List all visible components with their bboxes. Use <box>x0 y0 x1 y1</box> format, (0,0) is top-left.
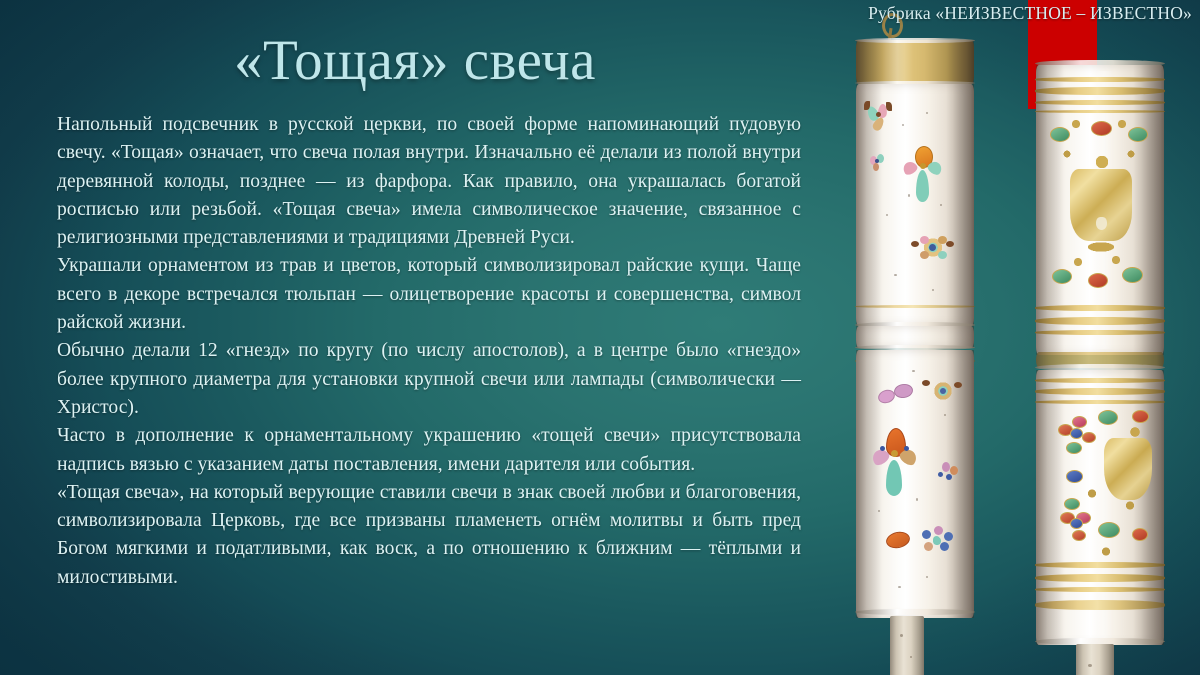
gem-red <box>1088 273 1108 288</box>
flower-leaf <box>954 382 962 388</box>
flower-leaf <box>886 460 902 496</box>
lower-ornate-body <box>1036 370 1164 645</box>
flower-petal <box>920 251 929 259</box>
gold-sprig <box>1114 119 1130 129</box>
gold-sprig <box>1124 149 1138 159</box>
left-candle-image <box>856 26 974 661</box>
flower-petal <box>950 466 958 475</box>
paragraph: Украшали орнаментом из трав и цветов, ко… <box>57 252 801 337</box>
lower-body <box>856 350 974 618</box>
flower-petal <box>934 526 943 535</box>
cap-top-rim <box>855 38 975 43</box>
flower-leaf <box>946 241 954 247</box>
gem-green <box>1050 127 1070 142</box>
candle-stem <box>1076 644 1114 675</box>
flower-center <box>875 159 879 163</box>
flower-accent <box>880 446 885 451</box>
base-rim <box>855 609 975 615</box>
gem-green <box>1098 410 1118 425</box>
flower-petal <box>873 163 879 171</box>
body-text-block: Напольный подсвечник в русской церкви, п… <box>57 111 801 592</box>
gold-sprig <box>1060 149 1074 159</box>
cartouche-shield <box>1096 217 1107 230</box>
flower-petal <box>940 542 949 551</box>
paragraph: Часто в дополнение к орнаментальному укр… <box>57 422 801 479</box>
upper-ornate-body <box>1036 65 1164 355</box>
flower-petal <box>885 530 912 551</box>
flower-accent <box>904 446 909 451</box>
flower-center <box>933 536 940 543</box>
gold-sprig <box>1126 426 1144 438</box>
paragraph: Обычно делали 12 «гнезд» по кругу (по чи… <box>57 337 801 422</box>
gold-cartouche <box>1070 169 1132 241</box>
brass-cap <box>856 40 974 84</box>
gold-sprig <box>1068 119 1084 129</box>
flower-leaf <box>916 170 929 202</box>
flower-petal <box>922 530 931 539</box>
flower-center <box>876 112 881 117</box>
flower-center <box>891 450 898 457</box>
gold-sprig <box>1098 546 1114 557</box>
gem-green <box>1066 442 1082 454</box>
header-rubric: Рубрика «НЕИЗВЕСТНОЕ – ИЗВЕСТНО» <box>868 3 1192 24</box>
gold-sprig <box>1108 255 1124 265</box>
flower-petal <box>920 236 929 244</box>
flower-petal <box>924 542 933 551</box>
gold-sprig <box>1070 257 1086 267</box>
paragraph: «Тощая свеча», на который верующие стави… <box>57 479 801 592</box>
upper-body <box>856 84 974 326</box>
flower-leaf <box>886 102 892 111</box>
flower-accent <box>938 472 943 477</box>
flower-accent <box>946 474 952 480</box>
flower-leaf <box>864 101 870 110</box>
gem-red <box>1091 121 1112 136</box>
flower-petal <box>938 251 947 259</box>
candle-stem <box>890 616 924 675</box>
gem-red <box>1132 528 1148 541</box>
gem-blue <box>1066 470 1083 483</box>
flower-petal <box>944 532 953 541</box>
page-title: «Тощая» свеча <box>0 31 830 91</box>
cartouche-crest <box>1092 153 1112 171</box>
gold-sprig <box>1084 488 1100 499</box>
gem-green <box>1052 269 1072 284</box>
gem-green <box>1064 498 1080 510</box>
flower-center <box>929 244 936 251</box>
gem-red <box>1082 432 1096 443</box>
gem-pink <box>1072 416 1087 428</box>
paragraph: Напольный подсвечник в русской церкви, п… <box>57 111 801 252</box>
gem-red <box>1072 530 1086 541</box>
cartouche-ribbon <box>1084 241 1118 253</box>
flower-petal <box>942 462 950 472</box>
gold-sprig <box>1122 500 1138 511</box>
flower-center <box>940 388 946 394</box>
flower-leaf <box>911 241 919 247</box>
flower-center <box>920 163 926 169</box>
gem-green <box>1098 522 1120 538</box>
gem-green <box>1128 127 1148 142</box>
gem-red <box>1132 410 1149 423</box>
gold-cartouche <box>1104 438 1152 500</box>
flower-petal <box>893 383 914 400</box>
gem-blue <box>1070 518 1083 529</box>
gem-green <box>1122 267 1143 283</box>
right-candle-image <box>1036 60 1164 660</box>
slide-canvas: Рубрика «НЕИЗВЕСТНОЕ – ИЗВЕСТНО» «Тощая»… <box>0 0 1200 675</box>
flower-leaf <box>922 380 930 386</box>
